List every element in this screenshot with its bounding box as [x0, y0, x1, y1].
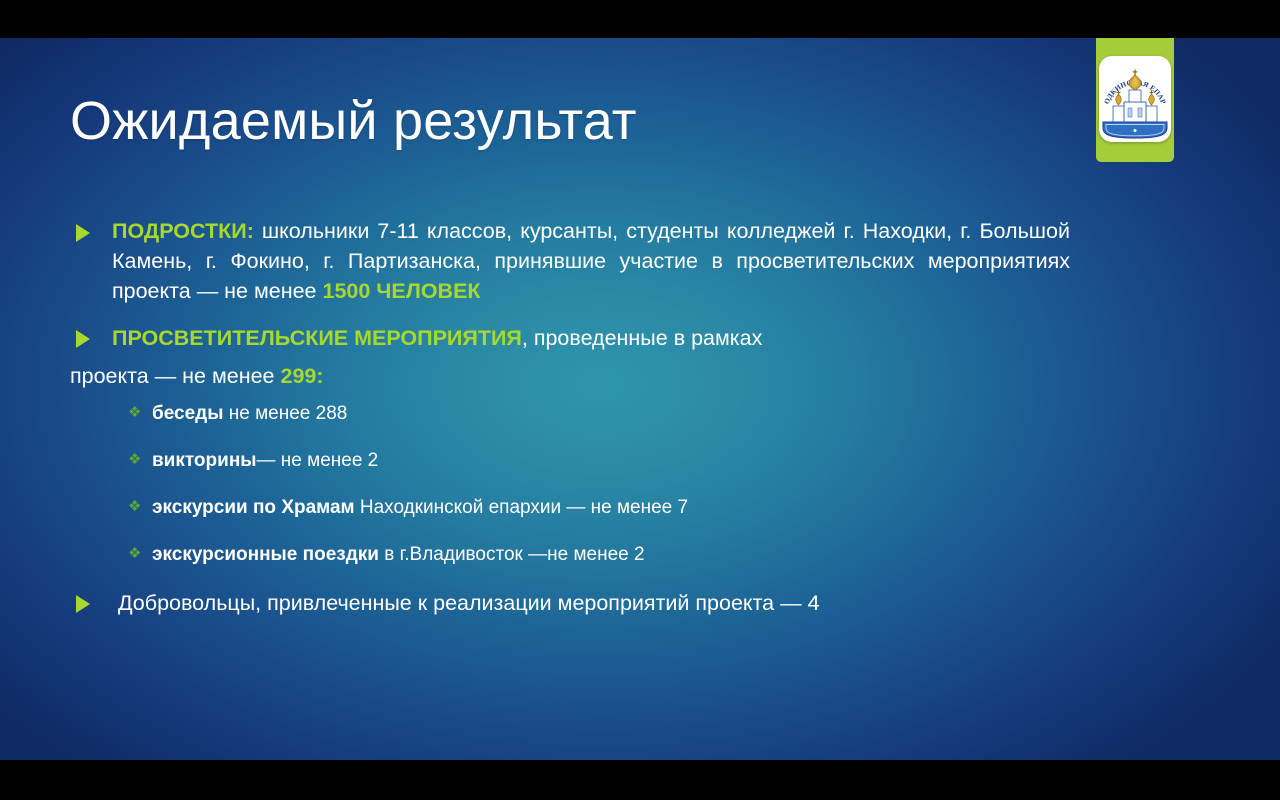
bullet-volunteers: Добровольцы, привлеченные к реализации м… — [70, 588, 1070, 618]
sub-bullet-ekskursii: ❖ экскурсии по Храмам Находкинской епарх… — [128, 495, 1070, 521]
sub-bullet-list: ❖ беседы не менее 288 ❖ викторины— не ме… — [70, 401, 1070, 567]
sub-bullet-besedy-text: не менее 288 — [223, 403, 347, 424]
bullet-events-text: , проведенные в рамках — [522, 326, 762, 350]
sub-bullet-poezdki: ❖ экскурсионные поездки в г.Владивосток … — [128, 542, 1070, 568]
sub-bullet-poezdki-label: экскурсионные поездки — [152, 544, 379, 565]
bullet-teens-label: ПОДРОСТКИ: — [112, 219, 254, 243]
sub-bullet-poezdki-text: в г.Владивосток —не менее 2 — [379, 544, 645, 565]
triangle-bullet-icon — [76, 224, 90, 242]
diamond-bullet-icon: ❖ — [128, 546, 141, 561]
sub-bullet-viktoriny-label: викторины — [152, 450, 257, 471]
bullet-events-line2: проекта — не менее 299: — [70, 361, 1070, 391]
diamond-bullet-icon: ❖ — [128, 452, 141, 467]
sub-bullet-viktoriny-text: — не менее 2 — [257, 450, 379, 471]
letterbox-top — [0, 0, 1280, 38]
letterbox-bottom — [0, 760, 1280, 800]
sub-bullet-besedy-label: беседы — [152, 403, 223, 424]
page-title: Ожидаемый результат — [70, 92, 637, 150]
nakhodka-diocese-emblem-icon: НАХОДКИНСКАЯ ЕПАРХИЯ — [1099, 56, 1171, 142]
presentation-slide: НАХОДКИНСКАЯ ЕПАРХИЯ — [0, 0, 1280, 800]
bullet-teens-text: школьники 7-11 классов, курсанты, студен… — [112, 219, 1070, 303]
slide-body: ПОДРОСТКИ: школьники 7-11 классов, курса… — [70, 216, 1070, 618]
sub-bullet-viktoriny: ❖ викторины— не менее 2 — [128, 448, 1070, 474]
triangle-bullet-icon — [76, 595, 90, 613]
triangle-bullet-icon — [76, 330, 90, 348]
bullet-events-label: ПРОСВЕТИТЕЛЬСКИЕ МЕРОПРИЯТИЯ — [112, 326, 522, 350]
bullet-teens-accent: 1500 ЧЕЛОВЕК — [322, 279, 480, 303]
bullet-volunteers-text: Добровольцы, привлеченные к реализации м… — [118, 591, 820, 615]
bullet-events-accent: 299 — [280, 364, 316, 388]
diocese-logo: НАХОДКИНСКАЯ ЕПАРХИЯ — [1096, 38, 1174, 162]
bullet-events-prefix: проекта — не менее — [70, 364, 280, 388]
diamond-bullet-icon: ❖ — [128, 405, 141, 420]
bullet-teens: ПОДРОСТКИ: школьники 7-11 классов, курса… — [70, 216, 1070, 306]
sub-bullet-ekskursii-text: Находкинской епархии — не менее 7 — [355, 497, 689, 518]
bullet-events: ПРОСВЕТИТЕЛЬСКИЕ МЕРОПРИЯТИЯ, проведенны… — [70, 322, 1070, 355]
bullet-events-suffix: : — [316, 364, 323, 388]
sub-bullet-besedy: ❖ беседы не менее 288 — [128, 401, 1070, 427]
bullet-events-line1: ПРОСВЕТИТЕЛЬСКИЕ МЕРОПРИЯТИЯ, проведенны… — [112, 322, 1070, 355]
diamond-bullet-icon: ❖ — [128, 499, 141, 514]
sub-bullet-ekskursii-label: экскурсии по Храмам — [152, 497, 355, 518]
slide-canvas: НАХОДКИНСКАЯ ЕПАРХИЯ — [0, 38, 1280, 760]
